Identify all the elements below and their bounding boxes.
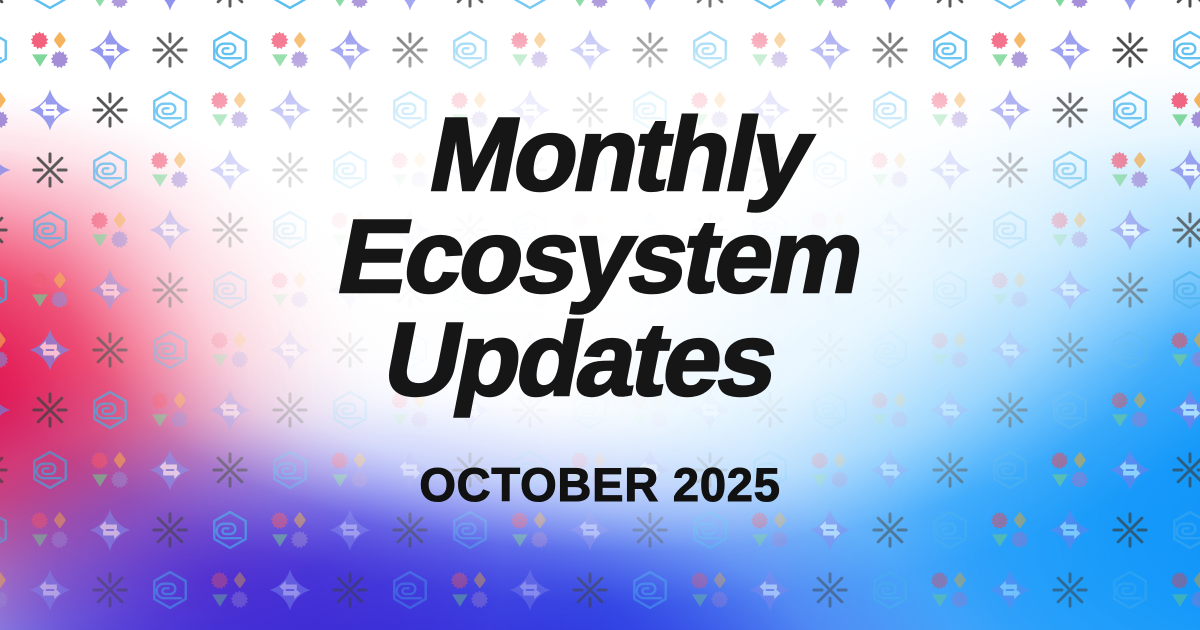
banner-canvas: Monthly Ecosystem Updates OCTOBER 2025	[0, 0, 1200, 630]
banner-content: Monthly Ecosystem Updates OCTOBER 2025	[0, 0, 1200, 630]
issue-date-label: OCTOBER 2025	[419, 411, 780, 512]
page-title: Monthly Ecosystem Updates	[310, 104, 890, 411]
